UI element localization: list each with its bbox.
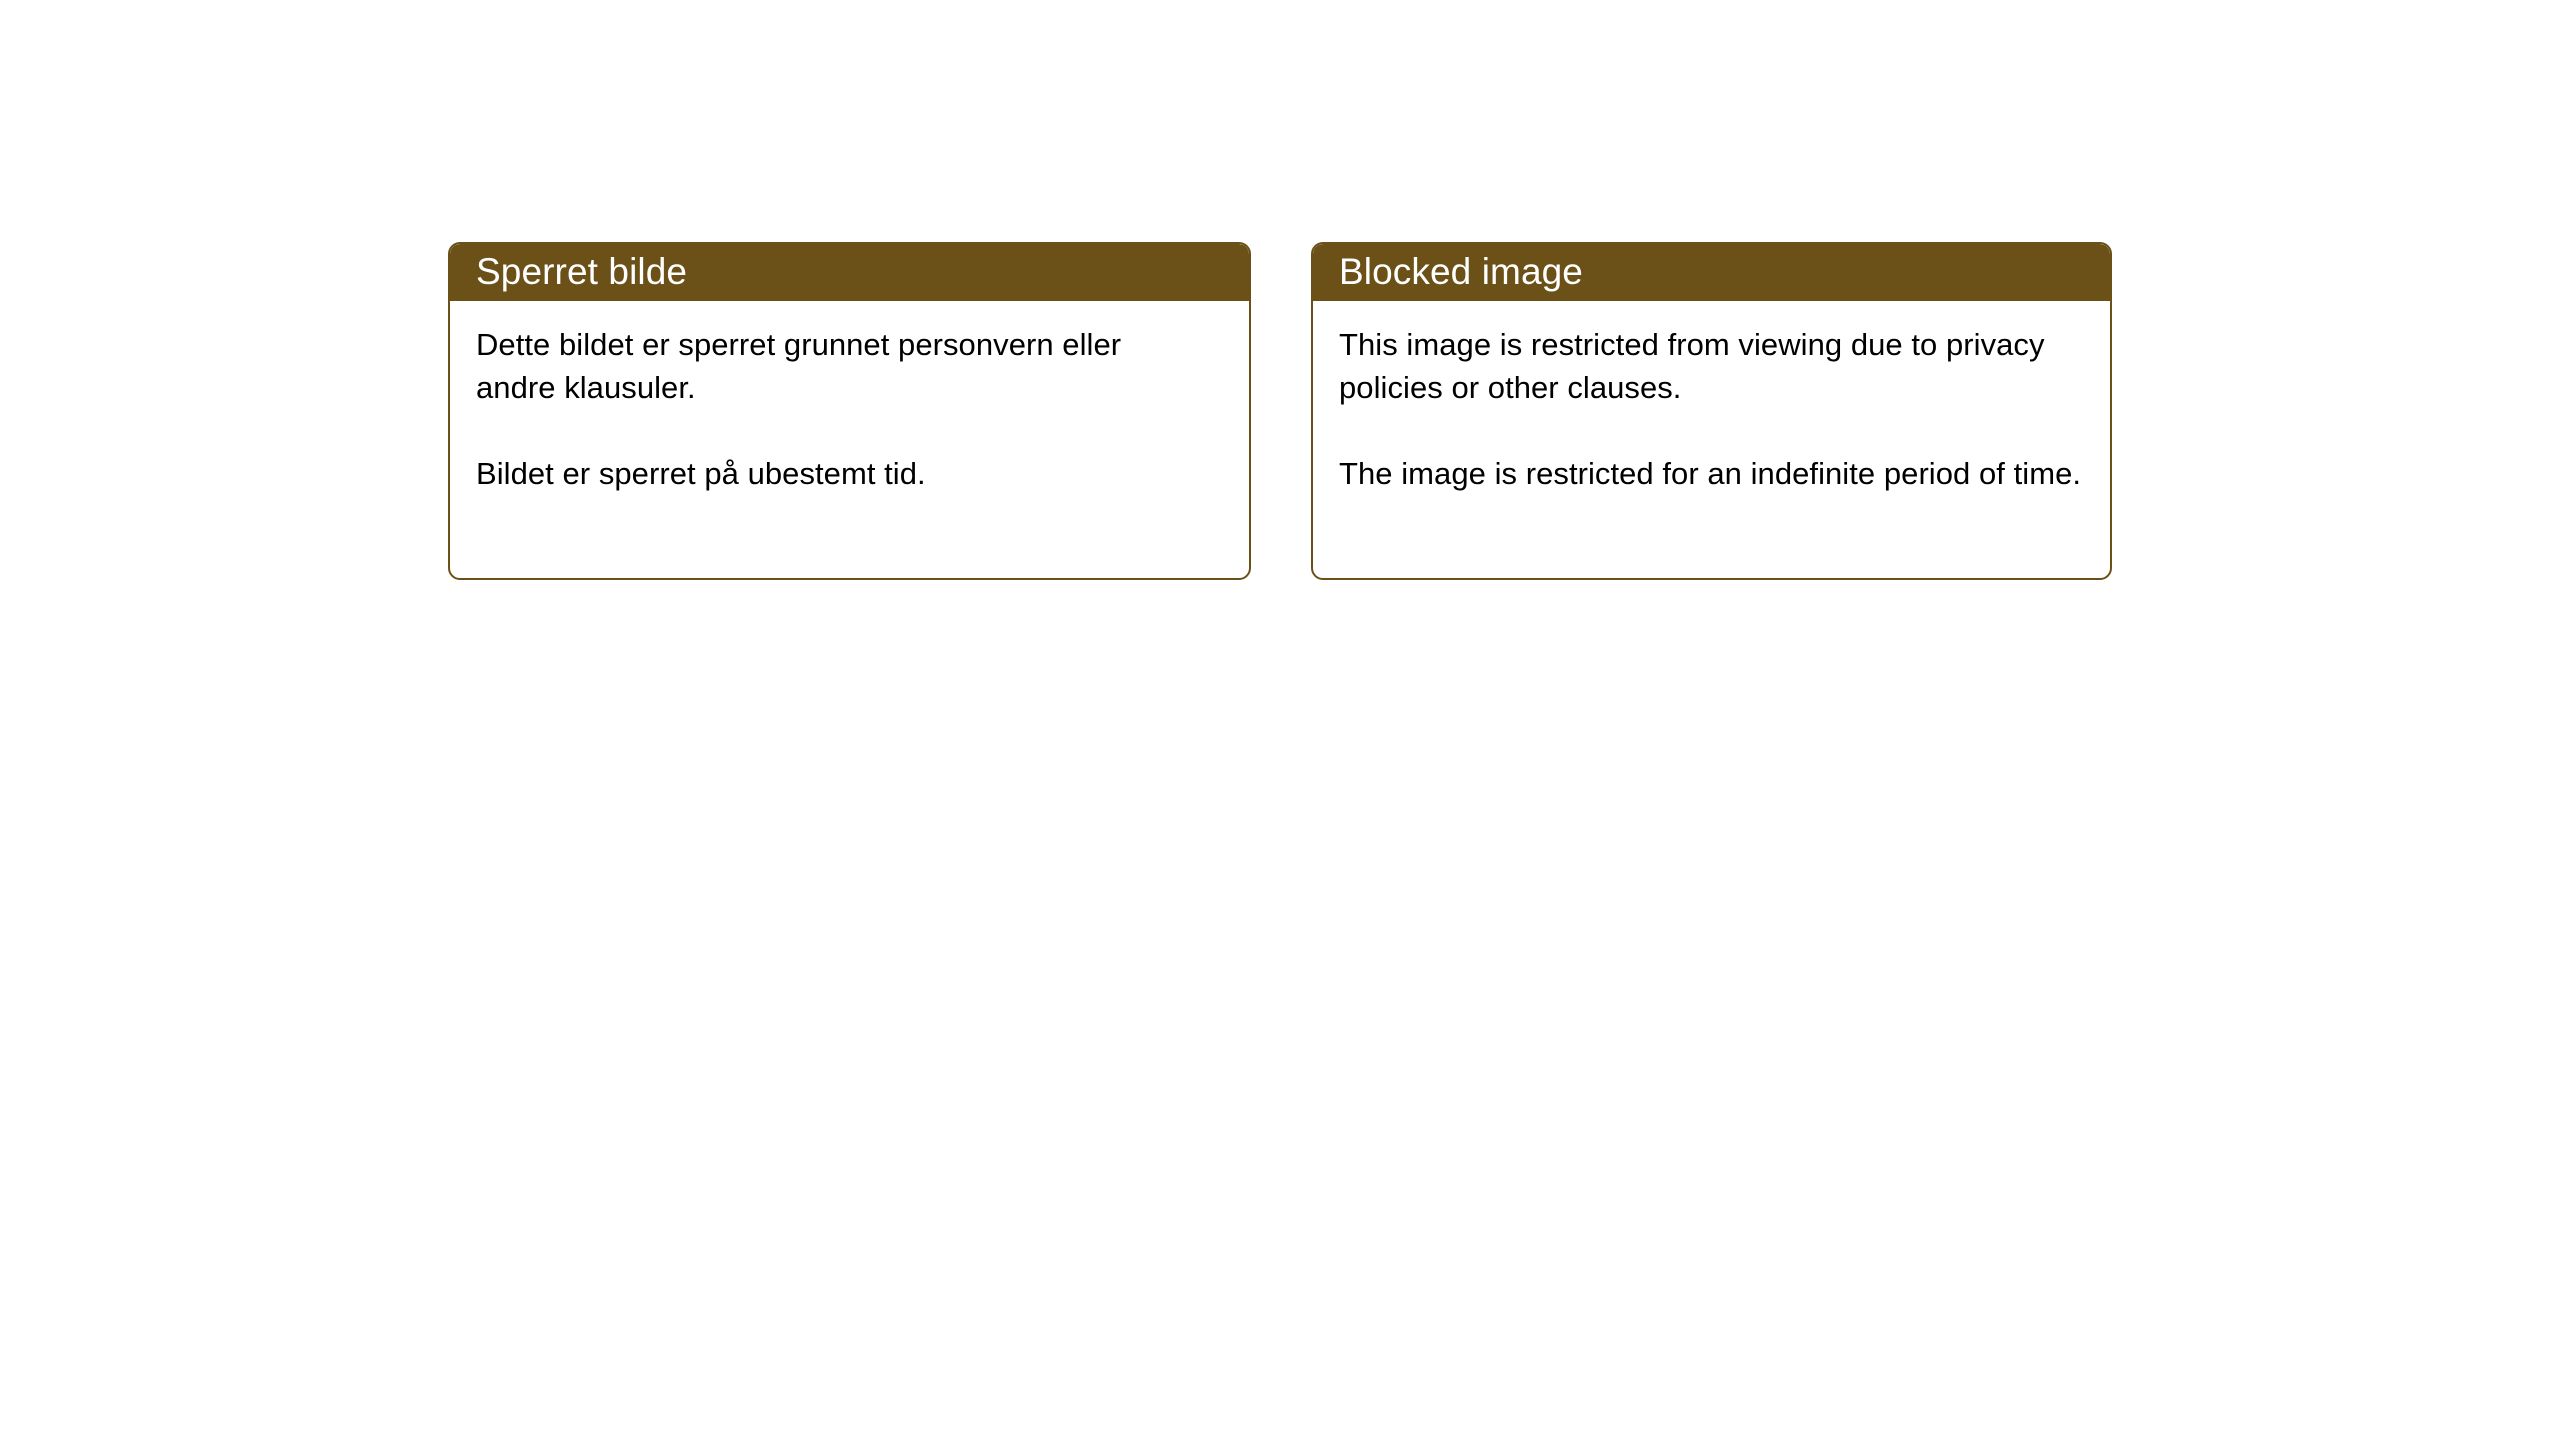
card-paragraph-privacy-norwegian: Dette bildet er sperret grunnet personve… — [476, 323, 1196, 409]
card-body-norwegian: Dette bildet er sperret grunnet personve… — [450, 301, 1249, 495]
card-paragraph-privacy-english: This image is restricted from viewing du… — [1339, 323, 2084, 409]
card-title-english: Blocked image — [1339, 253, 1583, 290]
card-body-english: This image is restricted from viewing du… — [1313, 301, 2110, 495]
card-paragraph-duration-norwegian: Bildet er sperret på ubestemt tid. — [476, 452, 1196, 495]
card-title-norwegian: Sperret bilde — [476, 253, 687, 290]
blocked-image-notice-area: Sperret bilde Dette bildet er sperret gr… — [0, 0, 2560, 1440]
card-header-norwegian: Sperret bilde — [450, 244, 1249, 301]
card-header-english: Blocked image — [1313, 244, 2110, 301]
blocked-image-card-english: Blocked image This image is restricted f… — [1311, 242, 2112, 580]
card-paragraph-duration-english: The image is restricted for an indefinit… — [1339, 452, 2084, 495]
blocked-image-card-norwegian: Sperret bilde Dette bildet er sperret gr… — [448, 242, 1251, 580]
